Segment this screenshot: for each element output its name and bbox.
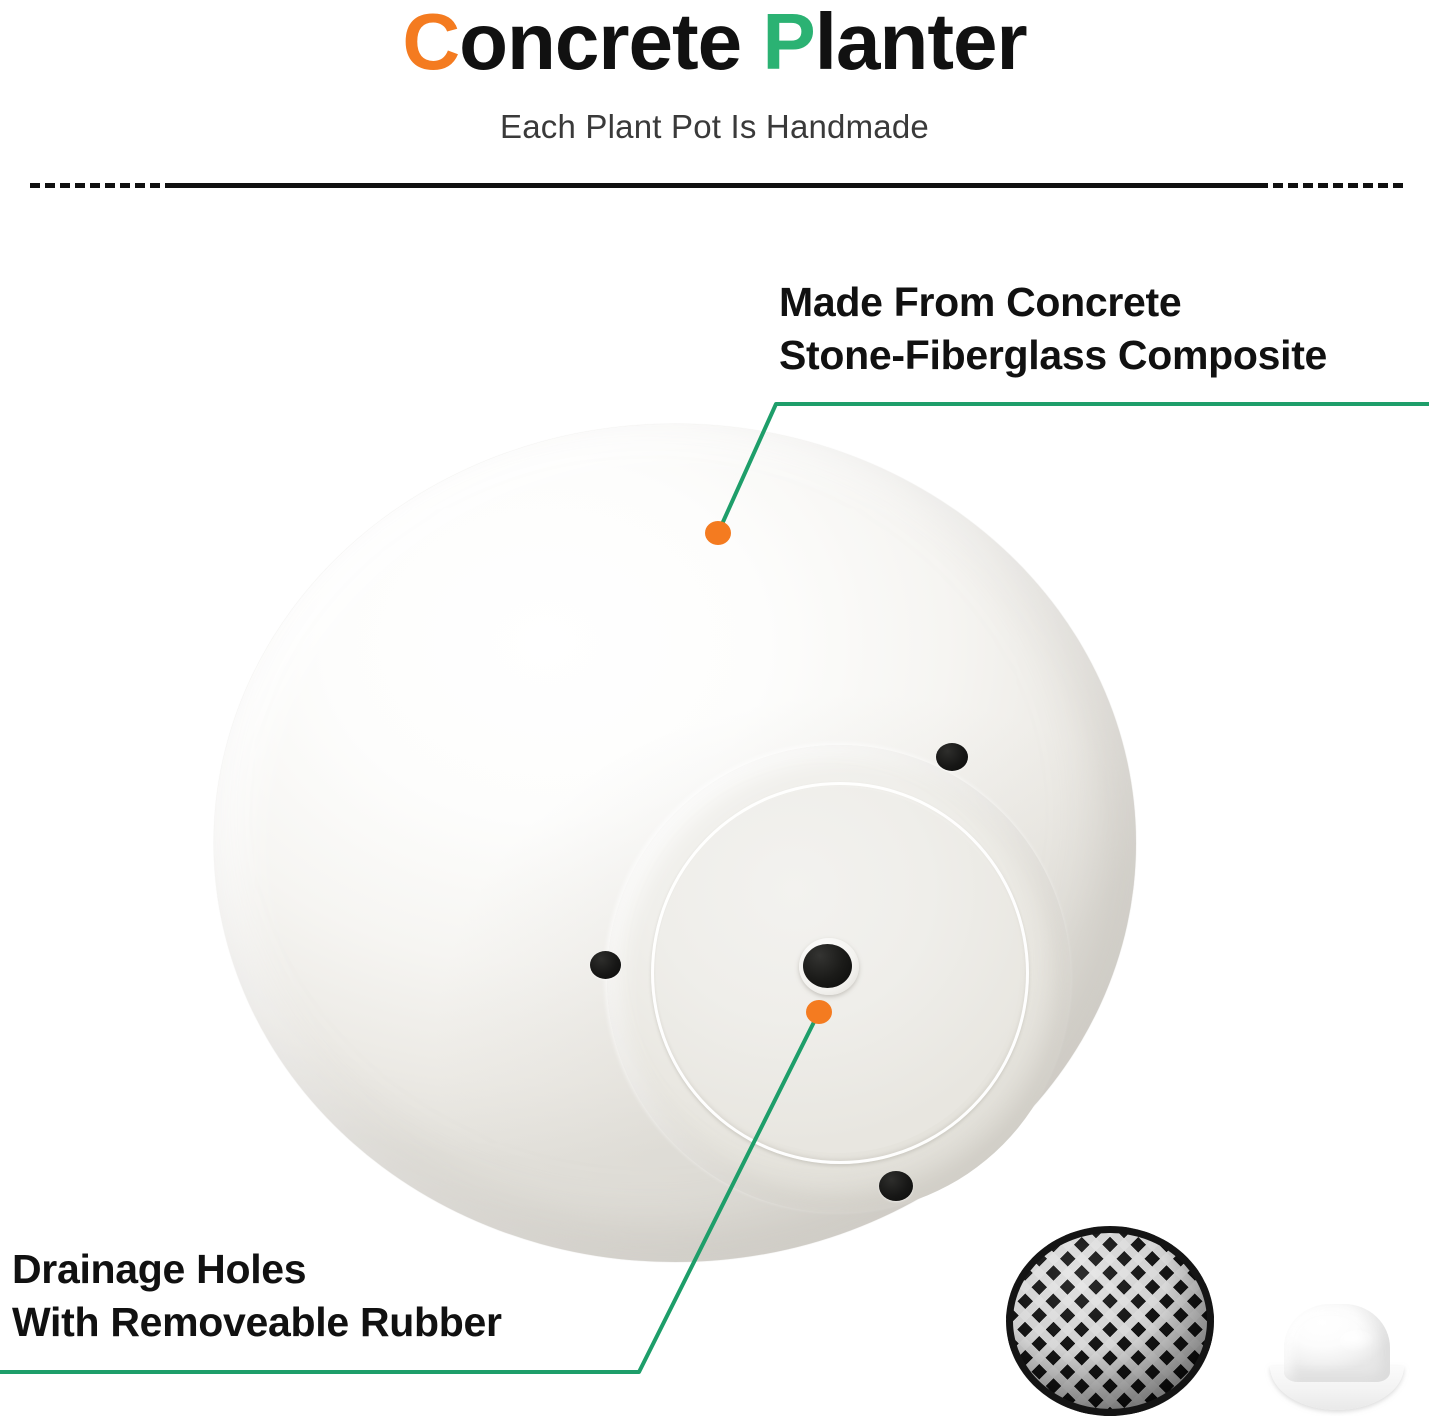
drainage-hole-left — [590, 951, 621, 979]
divider-dashed-right — [1258, 183, 1403, 188]
title-text-lanter: lanter — [815, 0, 1027, 86]
title-accent-letter-c: C — [402, 0, 459, 86]
callout-drainage-line-2: With Removeable Rubber — [12, 1296, 502, 1349]
callout-drainage: Drainage Holes With Removeable Rubber — [12, 1243, 502, 1349]
divider-dashed-left — [30, 183, 175, 188]
callout-drainage-line-1: Drainage Holes — [12, 1243, 502, 1296]
title-text-oncrete: oncrete — [459, 0, 762, 86]
page-title: Concrete Planter — [0, 0, 1429, 90]
drainage-hole-top-right — [936, 743, 968, 771]
page-subtitle: Each Plant Pot Is Handmade — [0, 108, 1429, 146]
mesh-drainage-screen — [1006, 1226, 1214, 1416]
callout-material-line-1: Made From Concrete — [779, 276, 1327, 329]
product-photo-area — [0, 200, 1429, 1416]
plug-dome — [1284, 1304, 1390, 1382]
callout-material-line-2: Stone-Fiberglass Composite — [779, 329, 1327, 382]
drainage-hole-bottom — [879, 1171, 913, 1201]
callout-material: Made From Concrete Stone-Fiberglass Comp… — [779, 276, 1327, 382]
divider-solid-middle — [168, 183, 1266, 188]
divider-rule — [0, 180, 1429, 190]
title-accent-letter-p: P — [762, 0, 814, 86]
center-drainage-hole — [803, 944, 852, 988]
mesh-outer-edge — [1006, 1226, 1214, 1416]
plug-highlight — [1340, 1330, 1374, 1352]
infographic-canvas: Concrete Planter Each Plant Pot Is Handm… — [0, 0, 1429, 1416]
header-block: Concrete Planter Each Plant Pot Is Handm… — [0, 0, 1429, 165]
rubber-drain-plug — [1270, 1304, 1404, 1410]
